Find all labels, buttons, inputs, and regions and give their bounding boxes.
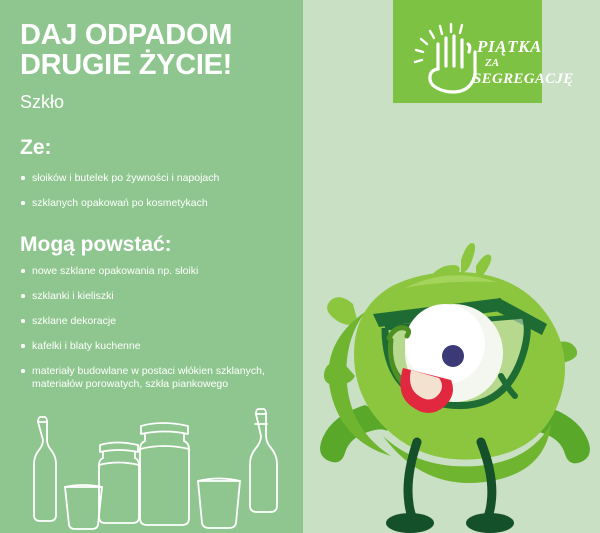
- logo-line3: SEGREGACJĘ: [473, 71, 574, 87]
- list-item-line: materiałów porowatych, szkła piankowego: [32, 378, 290, 391]
- green-monster-mascot: [313, 240, 600, 533]
- section-list-ze: słoików i butelek po żywności i napojach…: [20, 172, 290, 210]
- list-item: materiały budowlane w postaci włókien sz…: [20, 365, 290, 391]
- poster-root: PIĄTKA ZA SEGREGACJĘ DAJ ODPADOM DRUGIE …: [0, 0, 600, 533]
- jar-large-icon: [140, 423, 189, 525]
- hand-five-icon: [430, 36, 475, 92]
- section-heading-moga-powstac: Mogą powstać:: [20, 234, 172, 256]
- logo-artwork: PIĄTKA ZA SEGREGACJĘ: [393, 0, 542, 103]
- foot-right: [466, 513, 514, 533]
- list-item: szklanych opakowań po kosmetykach: [20, 197, 290, 210]
- headline-line-2: DRUGIE ŻYCIE!: [20, 50, 288, 80]
- list-item-line: materiały budowlane w postaci włókien sz…: [32, 365, 290, 378]
- list-item: szklane dekoracje: [20, 315, 290, 328]
- beer-bottle-icon: [250, 409, 277, 512]
- pupil: [442, 345, 464, 367]
- jar-small-icon: [99, 443, 139, 524]
- list-item-line: szklanki i kieliszki: [32, 290, 290, 303]
- page-title: DAJ ODPADOM DRUGIE ŻYCIE!: [20, 20, 288, 80]
- logo-line2: ZA: [484, 57, 499, 69]
- headline-line-1: DAJ ODPADOM: [20, 19, 232, 51]
- section-heading-ze: Ze:: [20, 137, 52, 159]
- list-item: nowe szklane opakowania np. słoiki: [20, 265, 290, 278]
- logo-badge: PIĄTKA ZA SEGREGACJĘ: [393, 0, 542, 103]
- foot-left: [386, 513, 434, 533]
- list-item-line: szklanych opakowań po kosmetykach: [32, 197, 290, 210]
- list-item: słoików i butelek po żywności i napojach: [20, 172, 290, 185]
- page-subtitle: Szkło: [20, 92, 64, 112]
- list-item-line: kafelki i blaty kuchenne: [32, 340, 290, 353]
- wine-bottle-icon: [34, 417, 56, 521]
- glassware-outline-illustration: [0, 398, 303, 533]
- drinking-glass-icon: [65, 485, 102, 529]
- drinking-glass-icon: [198, 479, 240, 529]
- list-item-line: nowe szklane opakowania np. słoiki: [32, 265, 290, 278]
- list-item: szklanki i kieliszki: [20, 290, 290, 303]
- list-item-line: szklane dekoracje: [32, 315, 290, 328]
- list-item: kafelki i blaty kuchenne: [20, 340, 290, 353]
- logo-line1: PIĄTKA: [476, 37, 542, 56]
- list-item-line: słoików i butelek po żywności i napojach: [32, 172, 290, 185]
- section-list-moga-powstac: nowe szklane opakowania np. słoiki szkla…: [20, 265, 290, 391]
